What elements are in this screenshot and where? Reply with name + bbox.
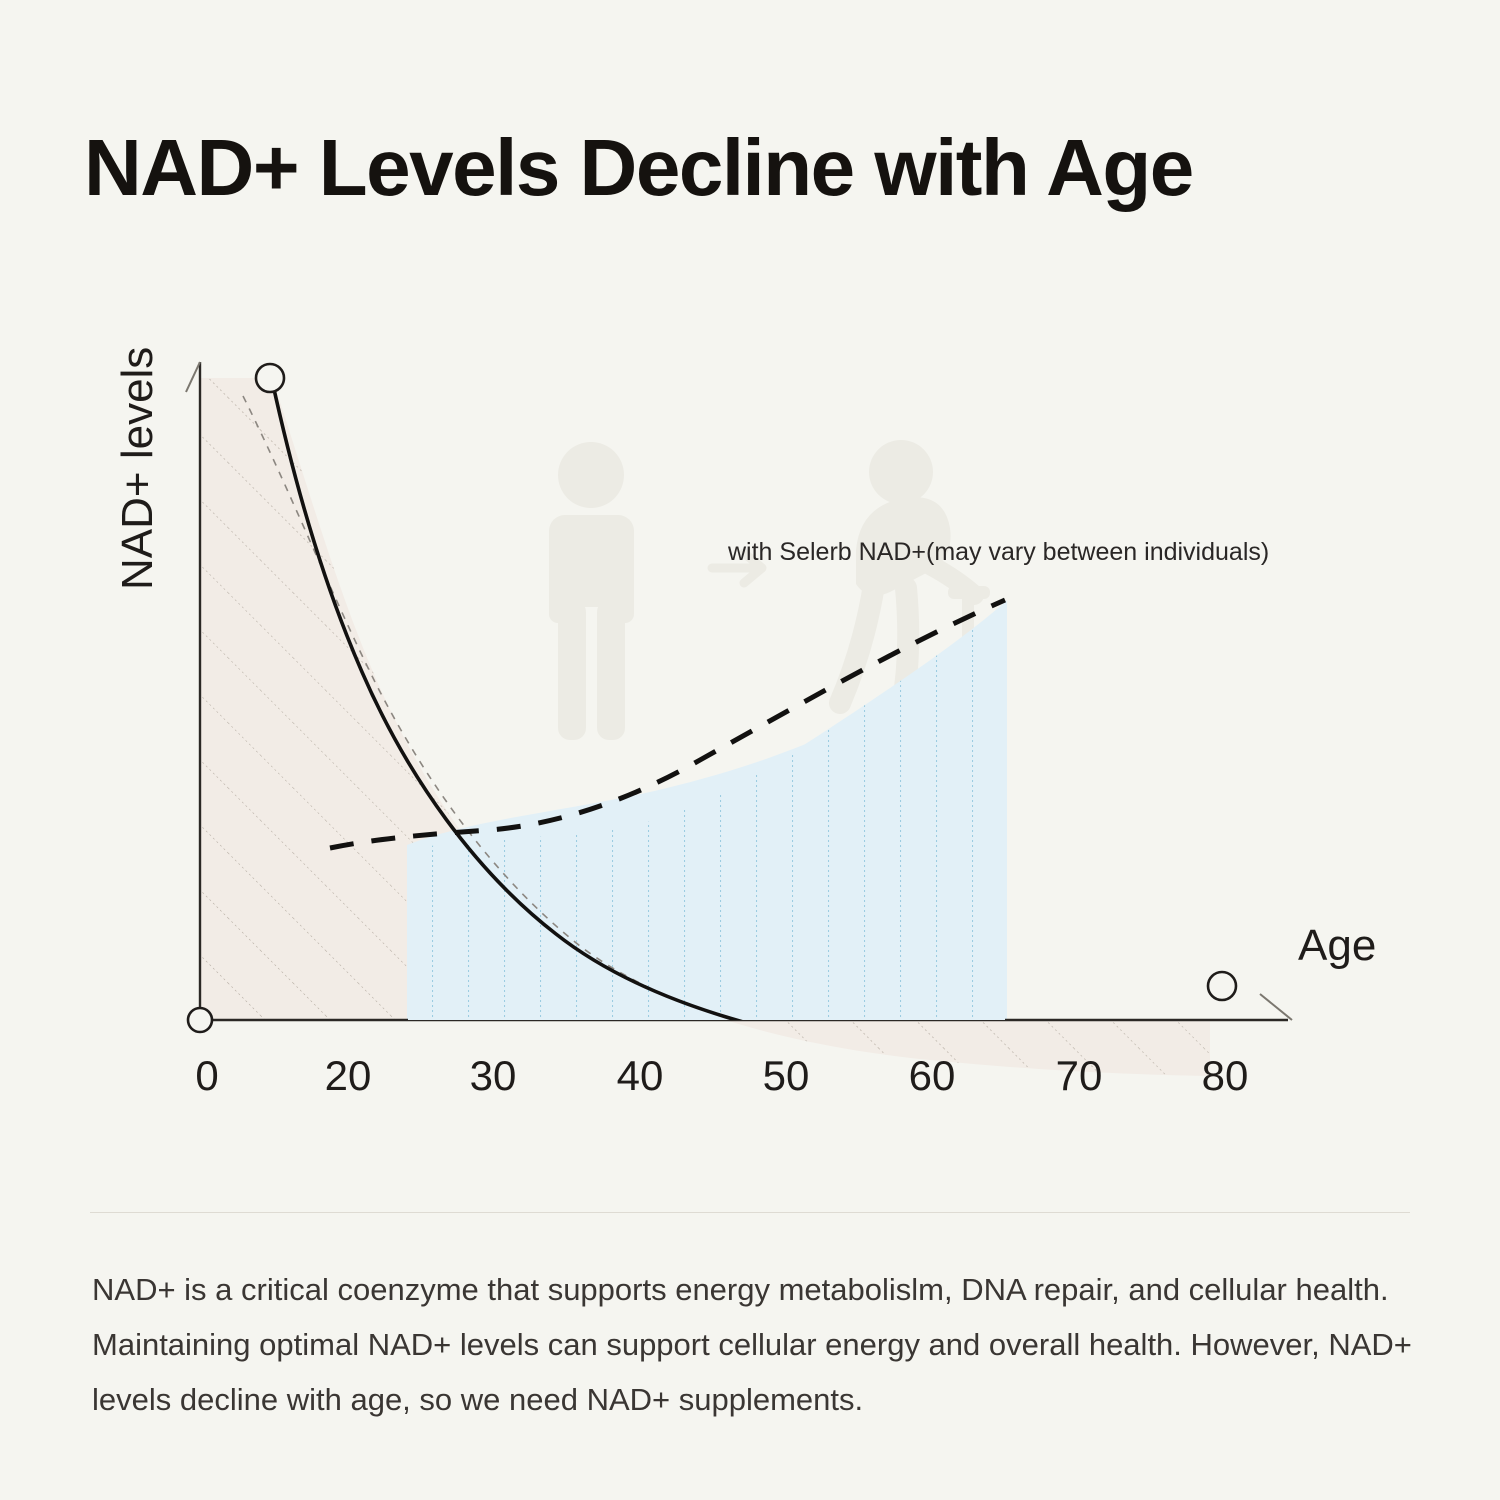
x-tick-30: 30 <box>470 1052 517 1099</box>
y-axis-title: NAD+ levels <box>113 347 162 590</box>
old-age-marker <box>1208 972 1236 1000</box>
youth-peak-marker <box>256 364 284 392</box>
nad-decline-chart: with Selerb NAD+(may vary between indivi… <box>0 300 1500 1120</box>
x-tick-20: 20 <box>325 1052 372 1099</box>
section-divider <box>90 1212 1410 1213</box>
supplement-annotation: with Selerb NAD+(may vary between indivi… <box>727 538 1269 566</box>
standing-person-icon <box>549 442 634 740</box>
origin-marker <box>188 1008 212 1032</box>
x-axis-arrow <box>1260 994 1292 1020</box>
page-title: NAD+ Levels Decline with Age <box>84 126 1193 210</box>
y-axis-arrow <box>186 362 200 392</box>
infographic-page: NAD+ Levels Decline with Age <box>0 0 1500 1500</box>
description-line-1: NAD+ is a critical coenzyme that support… <box>92 1262 1422 1317</box>
chart-canvas: with Selerb NAD+(may vary between indivi… <box>0 300 1500 1120</box>
description-line-3: levels decline with age, so we need NAD+… <box>92 1372 1422 1427</box>
description-line-2: Maintaining optimal NAD+ levels can supp… <box>92 1317 1422 1372</box>
x-tick-0: 0 <box>195 1052 218 1099</box>
x-axis-title: Age <box>1298 921 1376 970</box>
x-tick-50: 50 <box>763 1052 810 1099</box>
x-tick-40: 40 <box>617 1052 664 1099</box>
x-tick-70: 70 <box>1056 1052 1103 1099</box>
x-tick-60: 60 <box>909 1052 956 1099</box>
description-paragraph: NAD+ is a critical coenzyme that support… <box>92 1262 1422 1427</box>
x-tick-80: 80 <box>1202 1052 1249 1099</box>
x-tick-labels: 0 20 30 40 50 60 70 80 <box>195 1052 1248 1099</box>
